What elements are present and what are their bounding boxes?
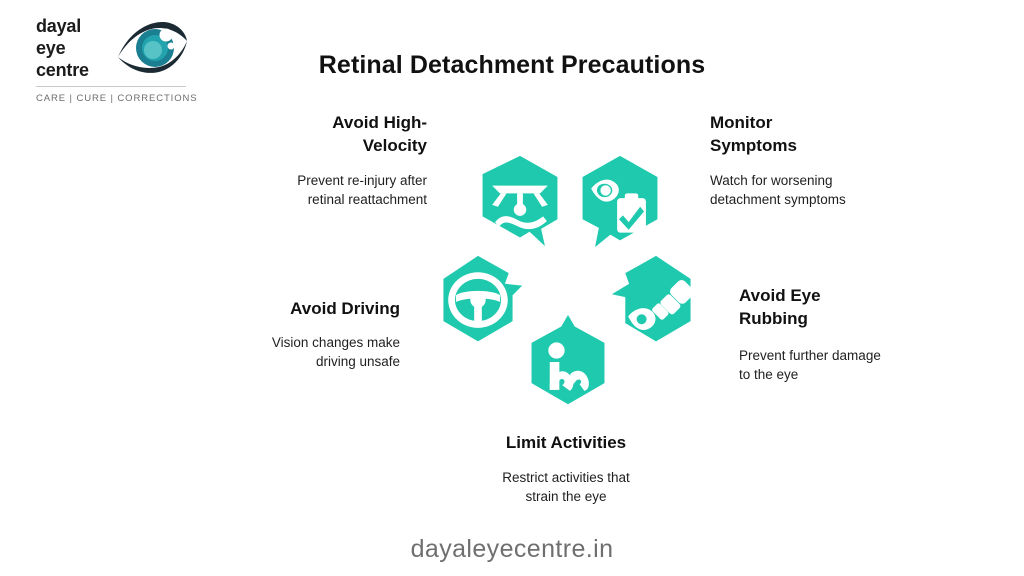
footer-website-url[interactable]: dayaleyecentre.in bbox=[0, 535, 1024, 564]
callout-avoid-driving: Avoid Driving Vision changes make drivin… bbox=[190, 298, 400, 371]
badge-high-velocity[interactable] bbox=[472, 153, 568, 249]
callout-title-driving: Avoid Driving bbox=[190, 298, 400, 321]
badge-avoid-eye-rubbing[interactable] bbox=[608, 253, 704, 349]
callout-title-high-velocity: Avoid High- Velocity bbox=[216, 112, 427, 157]
callout-desc-high-velocity: Prevent re-injury after retinal reattach… bbox=[216, 171, 427, 209]
steering-wheel-icon bbox=[443, 256, 522, 341]
brand-tagline: CARE | CURE | CORRECTIONS bbox=[36, 93, 198, 104]
callout-desc-activities: Restrict activities that strain the eye bbox=[428, 468, 704, 506]
callout-avoid-eye-rubbing: Avoid Eye Rubbing Prevent further damage… bbox=[739, 285, 954, 385]
callout-desc-driving: Vision changes make driving unsafe bbox=[190, 333, 400, 371]
badge-monitor-symptoms[interactable] bbox=[572, 153, 668, 249]
callout-desc-monitor: Watch for worsening detachment symptoms bbox=[710, 171, 925, 209]
page-title: Retinal Detachment Precautions bbox=[0, 51, 1024, 80]
eye-rubbing-hand-icon bbox=[612, 256, 696, 341]
brand-divider bbox=[36, 86, 186, 87]
person-stretching-icon bbox=[532, 315, 605, 404]
callout-limit-activities: Limit Activities Restrict activities tha… bbox=[428, 432, 704, 506]
callout-monitor-symptoms: Monitor Symptoms Watch for worsening det… bbox=[710, 112, 925, 210]
eye-clipboard-checklist-icon bbox=[583, 156, 658, 247]
badge-limit-activities[interactable] bbox=[520, 315, 616, 411]
badge-avoid-driving[interactable] bbox=[430, 253, 526, 349]
callout-high-velocity: Avoid High- Velocity Prevent re-injury a… bbox=[216, 112, 427, 210]
callout-desc-rubbing: Prevent further damage to the eye bbox=[739, 346, 954, 384]
hang-glider-icon bbox=[483, 156, 558, 246]
callout-title-rubbing: Avoid Eye Rubbing bbox=[739, 285, 954, 330]
callout-title-activities: Limit Activities bbox=[428, 432, 704, 455]
callout-title-monitor: Monitor Symptoms bbox=[710, 112, 925, 157]
precaution-icon-cluster bbox=[420, 145, 710, 420]
